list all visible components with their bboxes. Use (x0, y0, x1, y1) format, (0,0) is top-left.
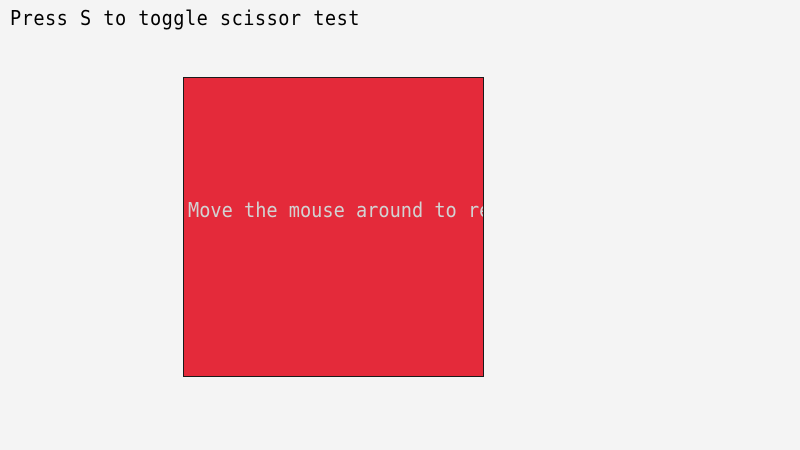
scissor-toggle-hint: Press S to toggle scissor test (10, 6, 360, 30)
scissor-rectangle[interactable]: Move the mouse around to reveal this tex… (183, 77, 484, 377)
clipped-reveal-text: Move the mouse around to reveal this tex… (188, 199, 484, 221)
demo-canvas[interactable]: Press S to toggle scissor test Move the … (0, 0, 800, 450)
scissor-fill-region (184, 78, 483, 376)
